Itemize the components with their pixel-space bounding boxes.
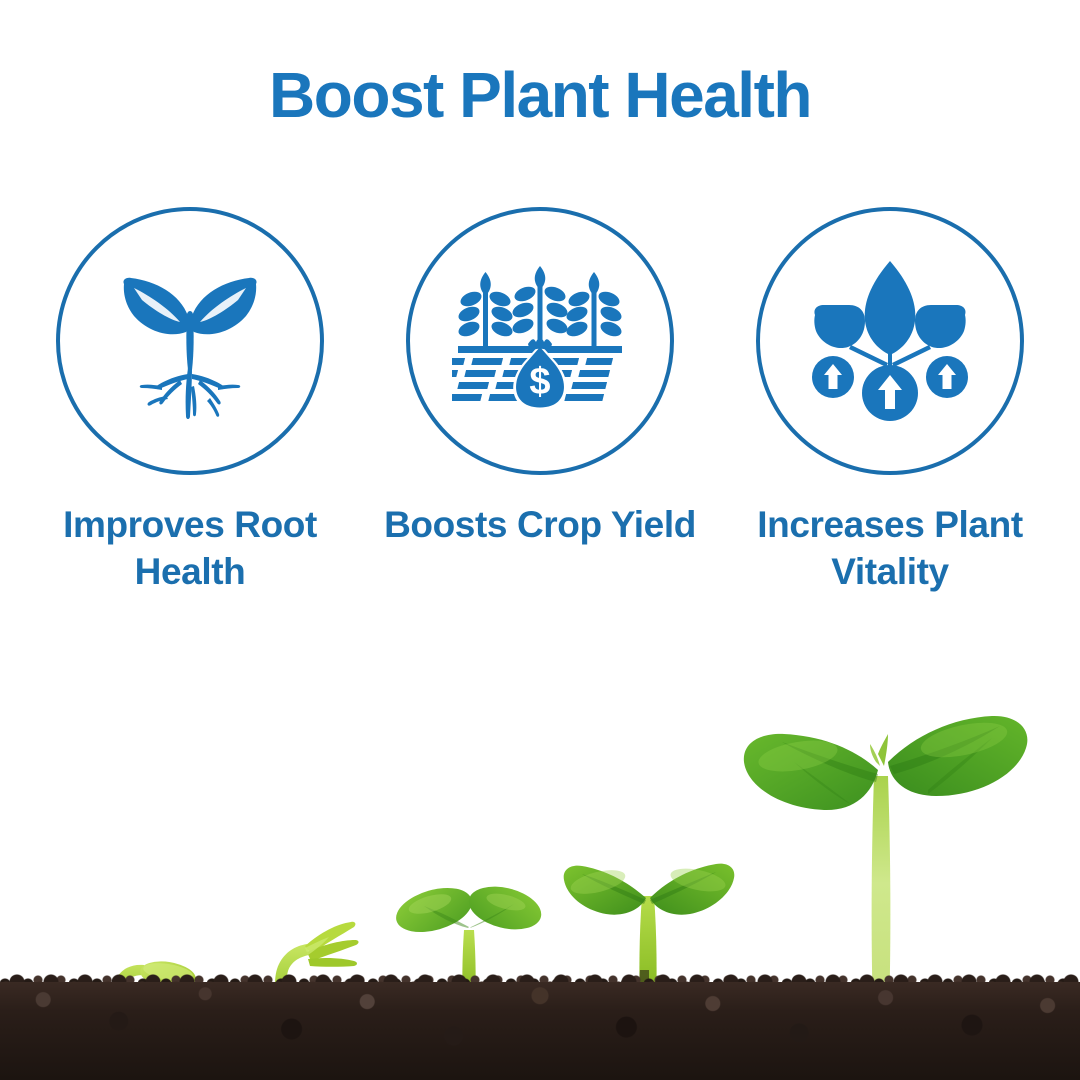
feature-item-improves-root-health[interactable]: Improves Root Health xyxy=(15,207,365,596)
icon-circle-3 xyxy=(756,207,1024,475)
page-title: Boost Plant Health xyxy=(0,62,1080,129)
feature-label-3: Increases Plant Vitality xyxy=(725,501,1055,596)
title-section: Boost Plant Health xyxy=(0,62,1080,129)
crop-field-money-bag-icon: $ xyxy=(452,266,628,416)
feature-item-increases-plant-vitality[interactable]: Increases Plant Vitality xyxy=(715,207,1065,596)
feature-item-boosts-crop-yield[interactable]: $ Boosts Crop Yield xyxy=(365,207,715,548)
feature-label-2: Boosts Crop Yield xyxy=(384,501,696,548)
sprout-with-roots-icon xyxy=(110,256,270,426)
feature-row: Improves Root Health xyxy=(0,207,1080,596)
svg-text:$: $ xyxy=(529,361,550,403)
soil-band xyxy=(0,982,1080,1080)
feature-label-1: Improves Root Health xyxy=(25,501,355,596)
icon-circle-2: $ xyxy=(406,207,674,475)
plant-growth-photo xyxy=(0,640,1080,1080)
icon-circle-1 xyxy=(56,207,324,475)
plant-growth-arrows-icon xyxy=(805,259,975,424)
